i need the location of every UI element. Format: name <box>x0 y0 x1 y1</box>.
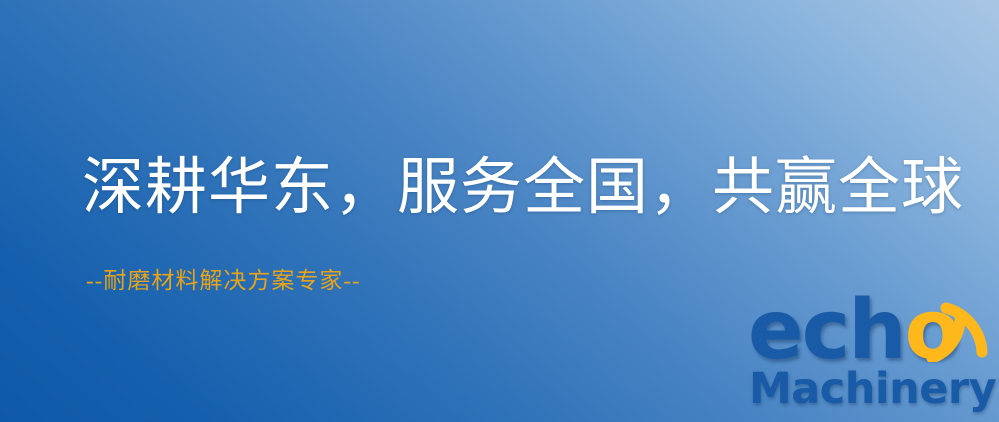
promo-banner: 深耕华东，服务全国，共赢全球 --耐磨材料解决方案专家-- echo Machi… <box>0 0 999 422</box>
logo-company-name: Machinery® <box>749 356 999 413</box>
banner-headline: 深耕华东，服务全国，共赢全球 <box>82 152 964 224</box>
echo-machinery-logo: echo Machinery® <box>744 296 994 418</box>
logo-company-text: Machinery <box>749 364 996 414</box>
signal-arcs-icon <box>926 296 988 362</box>
banner-subtitle: --耐磨材料解决方案专家-- <box>86 266 361 296</box>
